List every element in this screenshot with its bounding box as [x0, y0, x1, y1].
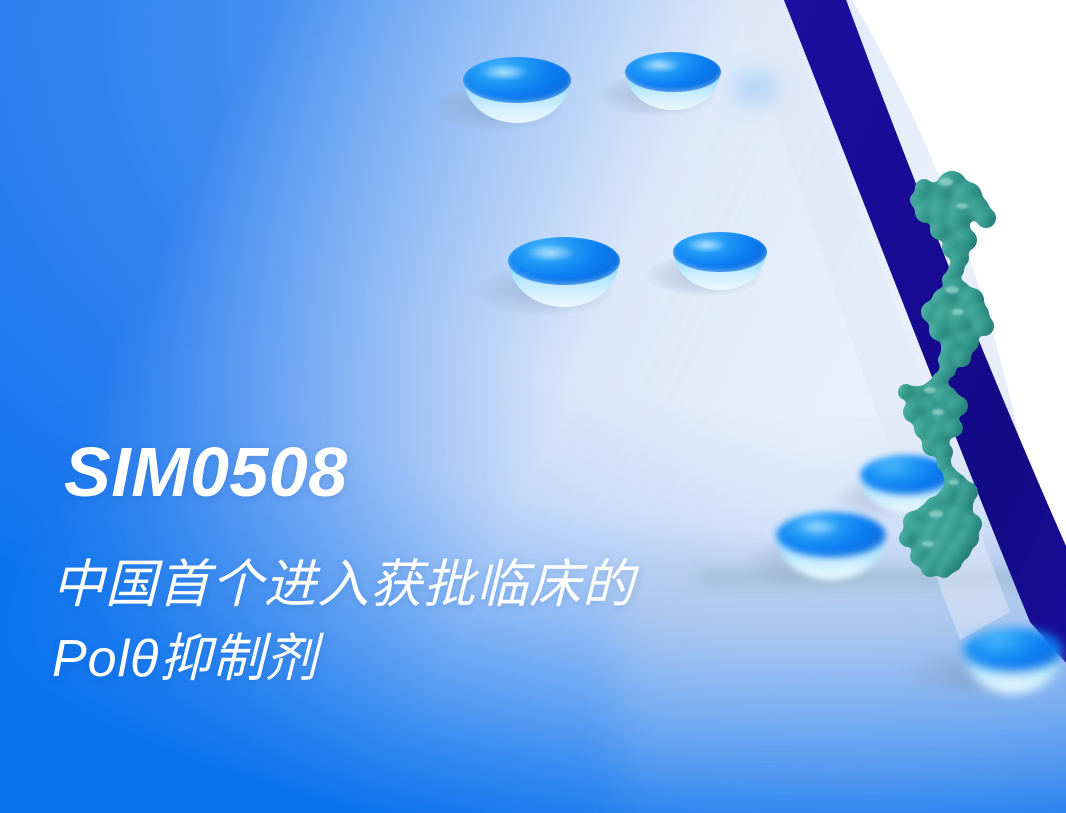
poster-canvas: SIM0508 中国首个进入获批临床的 Polθ抑制剂 [0, 0, 1066, 813]
protein-chain [898, 171, 996, 578]
page-subtitle: 中国首个进入获批临床的 Polθ抑制剂 [52, 548, 635, 696]
subtitle-line-2: Polθ抑制剂 [52, 622, 635, 696]
page-title: SIM0508 [64, 437, 348, 507]
subtitle-line-1: 中国首个进入获批临床的 [52, 556, 635, 614]
